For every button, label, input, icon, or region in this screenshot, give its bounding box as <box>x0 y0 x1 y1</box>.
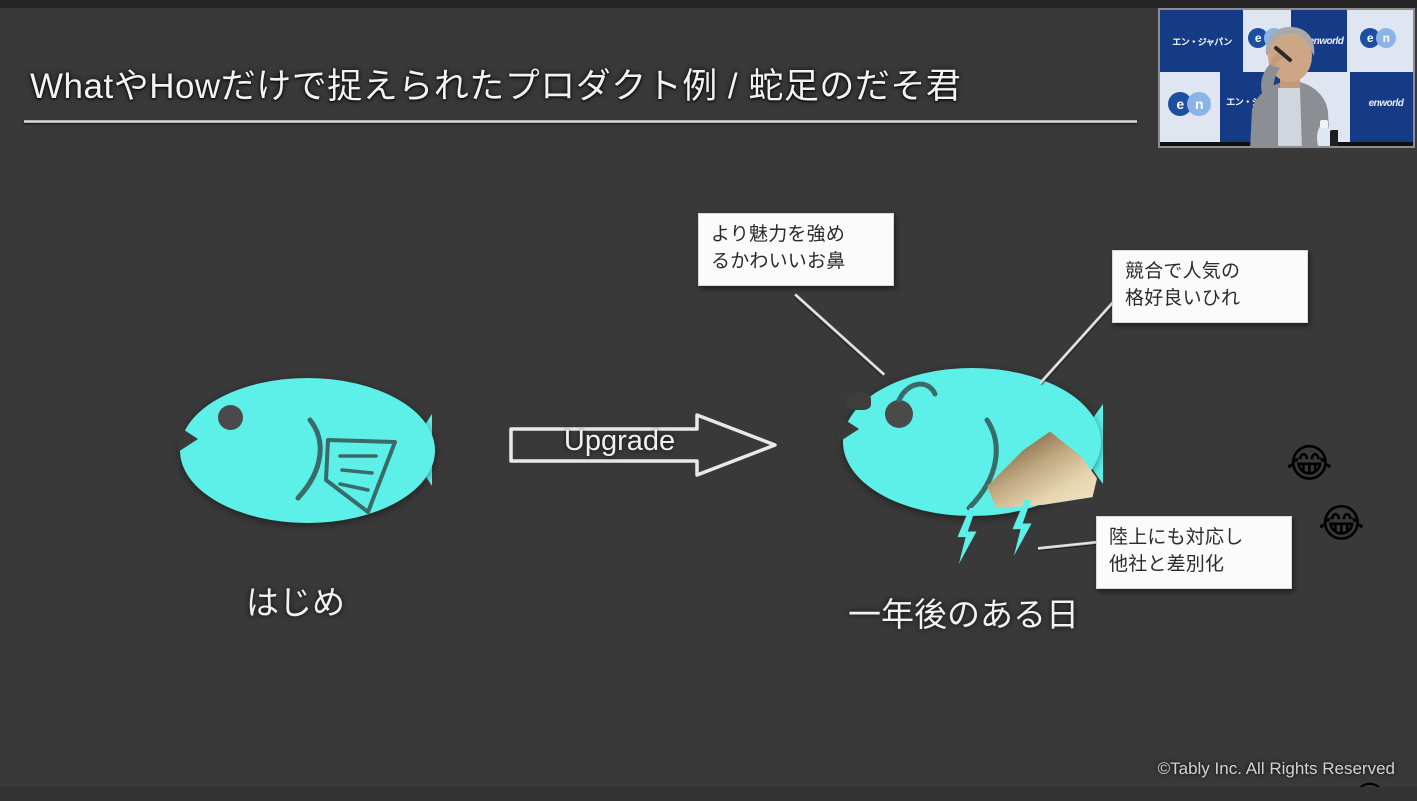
fish-before-caption: はじめ <box>246 576 345 624</box>
fish-eye-icon <box>885 400 913 428</box>
callout-land: 陸上にも対応し 他社と差別化 <box>1096 516 1292 589</box>
callout-leader-nose <box>794 293 885 376</box>
fish-eyebrow-icon <box>895 378 943 404</box>
presenter-silhouette-icon <box>1238 18 1338 148</box>
webcam-logo-enworld-right: enworld <box>1356 96 1415 110</box>
fish-mouth-icon <box>839 416 859 442</box>
fish-eye-icon <box>218 405 243 430</box>
letterbox-bottom <box>0 787 1417 801</box>
presenter-webcam-overlay[interactable]: エン・ジャパン e n enworld e n e n エン・ジ <box>1158 8 1415 148</box>
reaction-emoji-1: 😂 <box>1286 444 1333 484</box>
upgrade-arrow-label: Upgrade <box>507 425 732 458</box>
webcam-logo-en-japan: エン・ジャパン <box>1166 32 1238 50</box>
callout-fin: 競合で人気の 格好良いひれ <box>1112 250 1308 323</box>
fish-fin-icon <box>320 428 420 528</box>
fish-before <box>170 378 450 523</box>
fish-after-caption: 一年後のある日 <box>848 588 1079 636</box>
webcam-logo-en-topright: e n <box>1360 28 1396 48</box>
callout-nose: より魅力を強め るかわいいお鼻 <box>698 213 894 286</box>
fish-nose-icon <box>845 392 871 410</box>
webcam-logo-en-left: e n <box>1168 92 1211 116</box>
page-title: WhatやHowだけで捉えられたプロダクト例 / 蛇足のだそ君 <box>30 58 961 109</box>
letterbox-top <box>0 0 1417 8</box>
fish-mouth-icon <box>178 426 198 452</box>
copyright-notice: ©Tably Inc. All Rights Reserved <box>1158 759 1395 779</box>
reaction-emoji-2: 😂 <box>1318 504 1365 544</box>
title-divider <box>24 120 1137 123</box>
slide-canvas: WhatやHowだけで捉えられたプロダクト例 / 蛇足のだそ君 はじめ Upgr… <box>0 0 1417 801</box>
